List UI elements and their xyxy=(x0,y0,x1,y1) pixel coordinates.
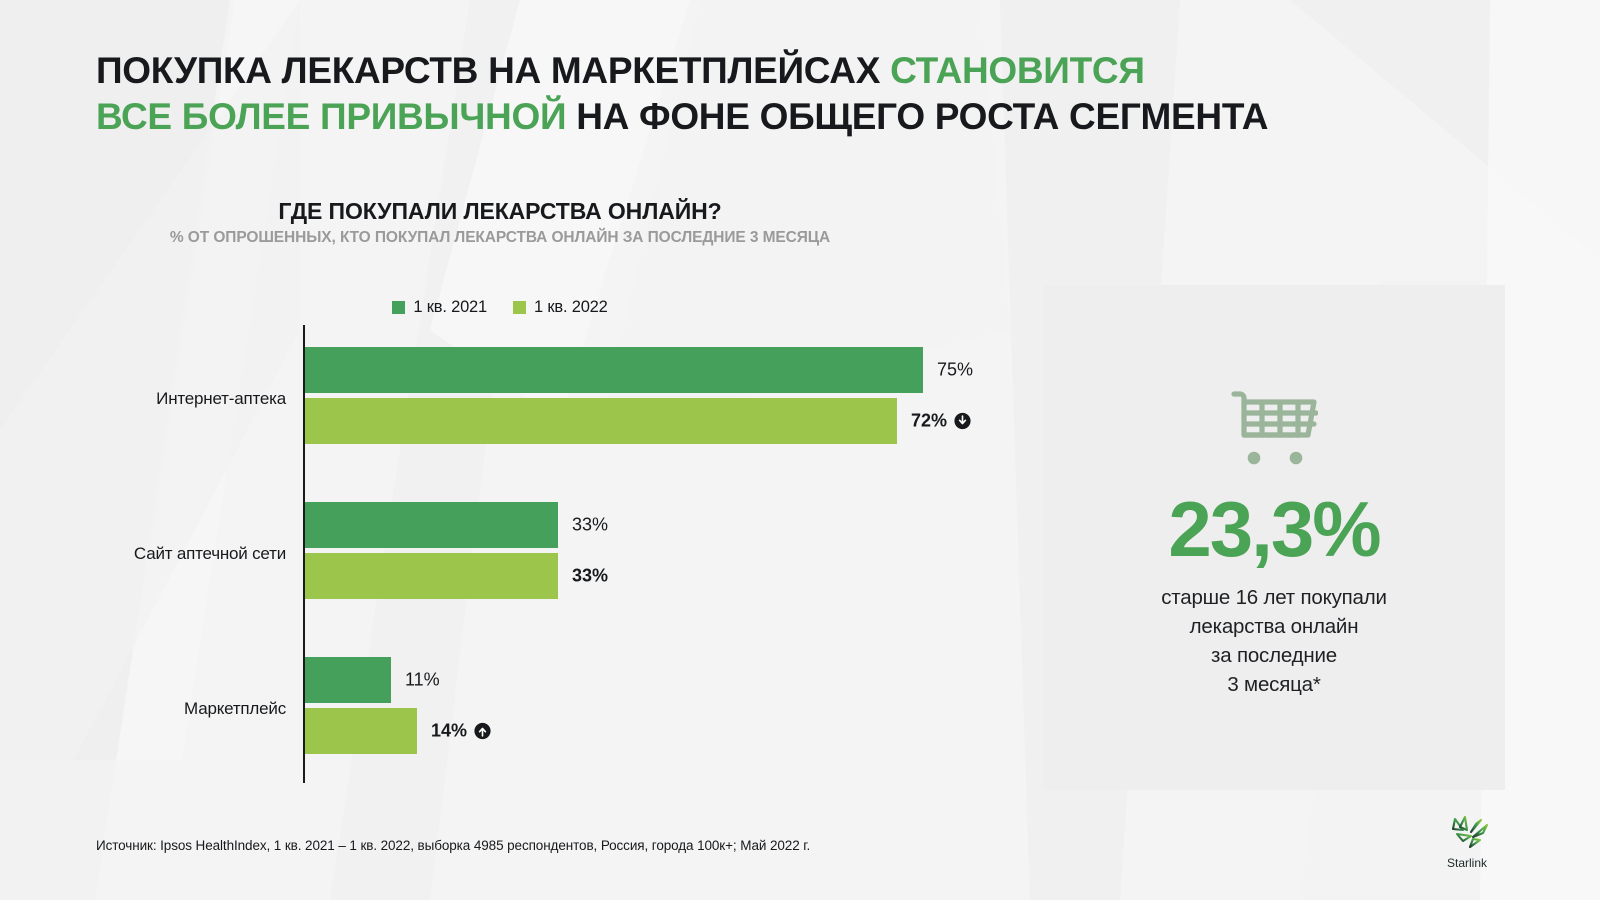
title-line-2-accent: ВСЕ БОЛЕЕ ПРИВЫЧНОЙ xyxy=(96,96,566,137)
bar-value-text-1-2021: 33% xyxy=(572,515,608,536)
legend-label-2021: 1 кв. 2021 xyxy=(413,298,487,317)
legend-item-2022[interactable]: 1 кв. 2022 xyxy=(513,298,608,317)
trend-down-icon xyxy=(954,413,971,430)
bar-value-2-2022: 14% xyxy=(431,721,491,742)
title-line-1-accent: СТАНОВИТСЯ xyxy=(890,50,1145,91)
bar-group-internet-apteka: Интернет-аптека 75% 72% xyxy=(0,325,1010,475)
source-note: Источник: Ipsos HealthIndex, 1 кв. 2021 … xyxy=(96,838,810,853)
legend-swatch-2021 xyxy=(392,301,405,314)
bar-row-0-2022[interactable]: 72% xyxy=(305,398,1205,444)
category-label-2: Маркетплейс xyxy=(0,699,286,719)
bar-row-1-2021[interactable]: 33% xyxy=(305,502,1205,548)
bar-value-text-0-2021: 75% xyxy=(937,360,973,381)
legend-label-2022: 1 кв. 2022 xyxy=(534,298,608,317)
bar-value-1-2021: 33% xyxy=(572,515,608,536)
brand-logo: Starlink xyxy=(1432,816,1502,870)
bar-value-text-2-2022: 14% xyxy=(431,721,467,742)
page-title: ПОКУПКА ЛЕКАРСТВ НА МАРКЕТПЛЕЙСАХ СТАНОВ… xyxy=(96,48,1426,140)
bar-value-1-2022: 33% xyxy=(572,566,608,587)
bar-row-2-2022[interactable]: 14% xyxy=(305,708,1205,754)
bar-1-2021[interactable] xyxy=(305,502,558,548)
bar-chart: Интернет-аптека 75% 72% Сайт аптечной се… xyxy=(0,325,1010,785)
bar-2-2022[interactable] xyxy=(305,708,417,754)
bar-group-sayt-aptechnoy-seti: Сайт аптечной сети 33% 33% xyxy=(0,480,1010,630)
category-label-1: Сайт аптечной сети xyxy=(0,544,286,564)
bar-2-2021[interactable] xyxy=(305,657,391,703)
bar-value-text-0-2022: 72% xyxy=(911,411,947,432)
legend-swatch-2022 xyxy=(513,301,526,314)
title-line-2: ВСЕ БОЛЕЕ ПРИВЫЧНОЙ НА ФОНЕ ОБЩЕГО РОСТА… xyxy=(96,94,1426,140)
bar-value-0-2022: 72% xyxy=(911,411,971,432)
bar-0-2021[interactable] xyxy=(305,347,923,393)
legend-item-2021[interactable]: 1 кв. 2021 xyxy=(392,298,487,317)
chart-legend: 1 кв. 2021 1 кв. 2022 xyxy=(0,298,1000,317)
bar-value-2-2021: 11% xyxy=(405,670,440,691)
category-label-0: Интернет-аптека xyxy=(0,389,286,409)
bar-row-0-2021[interactable]: 75% xyxy=(305,347,1205,393)
chart-title: ГДЕ ПОКУПАЛИ ЛЕКАРСТВА ОНЛАЙН? xyxy=(0,198,1000,225)
chart-subtitle: % ОТ ОПРОШЕННЫХ, КТО ПОКУПАЛ ЛЕКАРСТВА О… xyxy=(0,229,1000,247)
bar-value-text-1-2022: 33% xyxy=(572,566,608,587)
starlink-mark-icon xyxy=(1443,816,1491,850)
brand-name: Starlink xyxy=(1432,856,1502,870)
bar-group-marketplace: Маркетплейс 11% 14% xyxy=(0,635,1010,785)
bar-0-2022[interactable] xyxy=(305,398,897,444)
bar-value-text-2-2021: 11% xyxy=(405,670,440,691)
stat-description-line-1: лекарства онлайн xyxy=(1043,612,1505,641)
title-line-1-plain: ПОКУПКА ЛЕКАРСТВ НА МАРКЕТПЛЕЙСАХ xyxy=(96,50,890,91)
title-line-1: ПОКУПКА ЛЕКАРСТВ НА МАРКЕТПЛЕЙСАХ СТАНОВ… xyxy=(96,48,1426,94)
trend-up-icon xyxy=(474,723,491,740)
bar-value-0-2021: 75% xyxy=(937,360,973,381)
title-line-2-plain: НА ФОНЕ ОБЩЕГО РОСТА СЕГМЕНТА xyxy=(566,96,1268,137)
bar-1-2022[interactable] xyxy=(305,553,558,599)
bar-row-2-2021[interactable]: 11% xyxy=(305,657,1205,703)
bar-row-1-2022[interactable]: 33% xyxy=(305,553,1205,599)
shopping-cart-icon xyxy=(1230,390,1318,468)
